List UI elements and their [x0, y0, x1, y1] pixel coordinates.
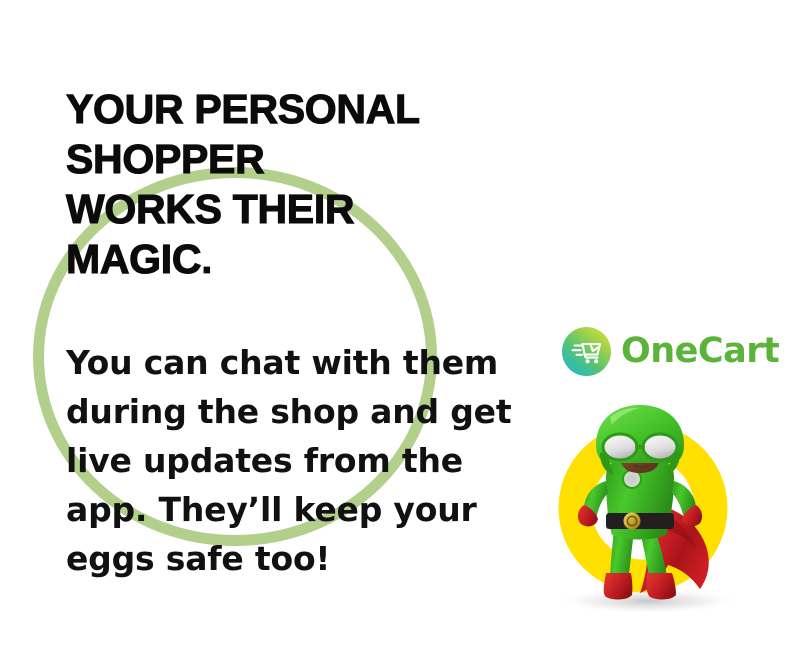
- copy-block: YOUR PERSONAL SHOPPER WORKS THEIR MAGIC.…: [0, 0, 560, 671]
- body-paragraph: You can chat with them during the shop a…: [66, 338, 536, 583]
- shopping-cart-icon: [562, 327, 611, 376]
- headline-period: .: [201, 236, 212, 282]
- headline-line-2: SHOPPER: [66, 136, 264, 182]
- headline-line-3: WORKS THEIR: [66, 186, 354, 232]
- page-title: YOUR PERSONAL SHOPPER WORKS THEIR MAGIC.: [66, 84, 546, 284]
- body-line-5: eggs safe too!: [66, 539, 330, 578]
- promo-slide: YOUR PERSONAL SHOPPER WORKS THEIR MAGIC.…: [0, 0, 800, 671]
- brand-lockup: OneCart: [562, 327, 779, 376]
- body-line-2: during the shop and get: [66, 392, 511, 431]
- headline-line-1: YOUR PERSONAL: [66, 86, 420, 132]
- body-line-3: live updates from the: [66, 441, 463, 480]
- headline-line-4: MAGIC: [66, 236, 201, 282]
- brand-name: OneCart: [621, 334, 779, 369]
- body-line-1: You can chat with them: [66, 343, 498, 382]
- superhero-shopper-character: [540, 405, 790, 635]
- body-line-4: app. They’ll keep your: [66, 490, 477, 529]
